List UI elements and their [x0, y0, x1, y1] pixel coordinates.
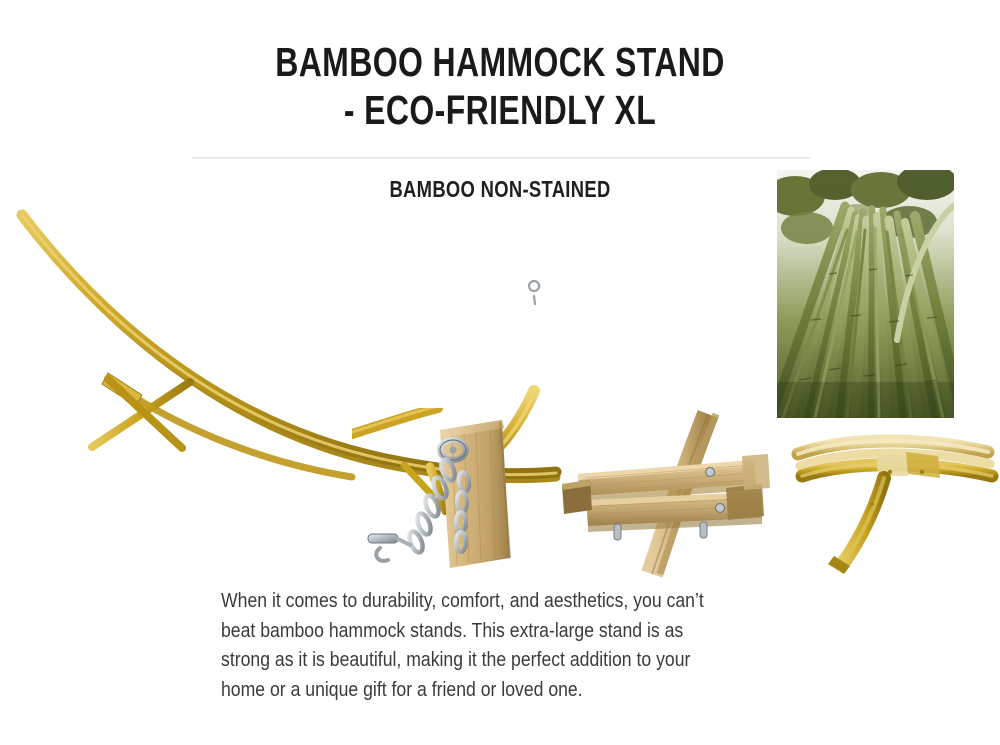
header-divider	[192, 157, 810, 159]
chain-hardware-detail	[352, 408, 532, 580]
eye-hook-icon	[529, 281, 539, 304]
product-slide: BAMBOO HAMMOCK STAND- ECO-FRIENDLY XL BA…	[0, 0, 1000, 745]
page-title-line-2: - ECO-FRIENDLY XL	[110, 86, 890, 134]
page-title-line-1: BAMBOO HAMMOCK STAND	[275, 39, 725, 85]
product-description: When it comes to durability, comfort, an…	[221, 586, 720, 704]
angled-leg	[828, 478, 884, 574]
bamboo-forest-photo	[777, 170, 954, 418]
bolted-joint-detail	[556, 396, 772, 578]
page-title: BAMBOO HAMMOCK STAND- ECO-FRIENDLY XL	[110, 38, 890, 134]
turnbuckle-icon	[368, 534, 410, 561]
left-cross-leg	[92, 379, 190, 448]
curved-leg-detail	[788, 432, 1000, 582]
